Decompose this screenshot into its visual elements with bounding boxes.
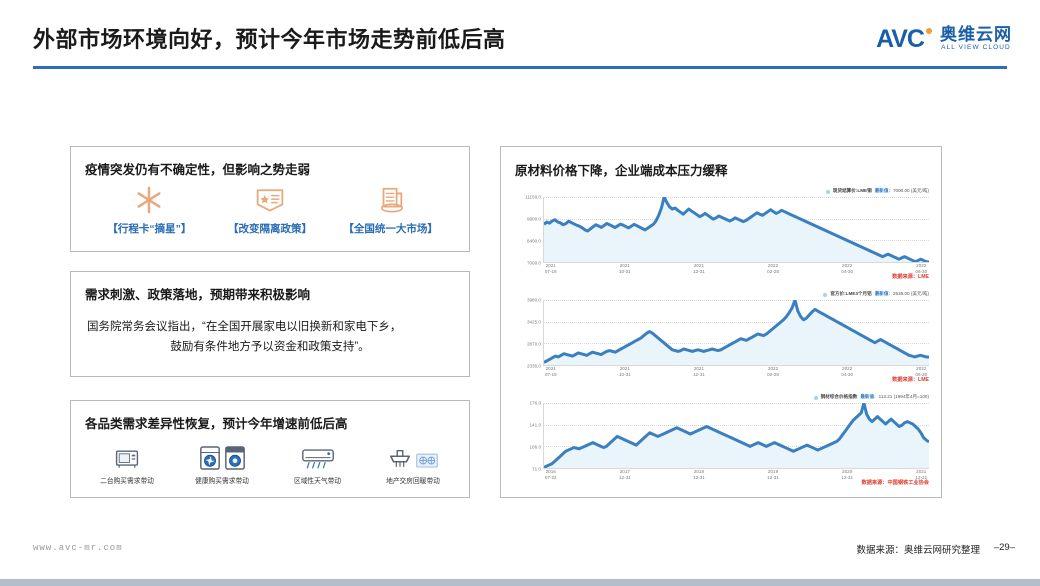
range-hood-cooktop-icon	[388, 433, 439, 471]
chart-aluminium-x-axis: 202107-19202110-31202112-31202202-282022…	[543, 366, 929, 382]
raw-material-price-panel: 原材料价格下降，企业端成本压力缓释 现货结算价:LME铜 最新值: 7000.0…	[500, 146, 942, 498]
policy-label-unified-market: 【全国统一大市场】	[343, 221, 438, 236]
footer-website: www.avc-mr.com	[33, 543, 123, 553]
y-tick-label: 7000.0	[527, 261, 541, 266]
legend-swatch-icon	[823, 293, 827, 297]
product-item-microwave[interactable]: 二台购买需求带动	[79, 433, 175, 486]
box1-heading: 疫情突发仍有不确定性，但影响之势走弱	[85, 159, 310, 178]
chart-copper: 现货结算价:LME铜 最新值: 7000.00 (美元/吨) 11150.098…	[515, 187, 929, 285]
product-label-air-conditioner: 区域性天气带动	[294, 476, 341, 486]
logo-mark-text: AVC	[876, 27, 924, 52]
logo-tagline: ALL VIEW CLOUD	[941, 44, 1011, 52]
microwave-icon	[114, 433, 140, 471]
y-tick-label: 9800.0	[527, 217, 541, 222]
x-tick-label: 201607-22	[545, 469, 557, 480]
legend-latest-value: 7000.00 (美元/吨)	[893, 189, 929, 194]
policy-label-quarantine: 【改变隔离政策】	[228, 221, 312, 236]
category-recovery-box: 各品类需求差异性恢复，预计今年增速前低后高 二台购买需求带动	[70, 400, 470, 498]
chart-steel-y-axis: 176.0141.0106.071.0	[515, 403, 543, 469]
logo-chinese-name: 奥维云网	[940, 26, 1012, 44]
panel-heading: 原材料价格下降，企业端成本压力缓释	[515, 160, 728, 179]
footer-page-number: –29–	[994, 542, 1015, 553]
product-label-washer-dryer: 健康购买需求带动	[195, 476, 249, 486]
demand-policy-box: 需求刺激、政策落地，预期带来积极影响 国务院常务会议指出，“在全国开展家电以旧换…	[70, 271, 470, 377]
chart-copper-x-axis: 202107-19202110-31202112-31202202-282022…	[543, 263, 929, 279]
chart-steel-source: 数据来源：中国钢铁工业协会	[862, 479, 929, 486]
policy-label-travel-card: 【行程卡“摘星”】	[107, 221, 191, 236]
legend-series-name: 现货结算价:LME铜	[833, 189, 872, 194]
chart-copper-plot-area: 11150.09800.08400.07000.0	[515, 197, 929, 263]
asterisk-star-icon	[134, 183, 164, 217]
product-item-range-hood[interactable]: 地产交房回暖带动	[366, 433, 462, 486]
policy-item-unified-market[interactable]: 【全国统一大市场】	[331, 183, 451, 236]
legend-latest-value: 2535.00 (美元/吨)	[893, 292, 929, 297]
washer-dryer-icon	[199, 433, 246, 471]
legend-swatch-icon	[814, 396, 818, 400]
logo-chinese-block: 奥维云网 ALL VIEW CLOUD	[940, 26, 1012, 52]
legend-latest-label: 最新值:	[875, 189, 890, 194]
y-tick-label: 141.0	[530, 423, 542, 428]
policy-item-quarantine[interactable]: 【改变隔离政策】	[210, 183, 330, 236]
product-label-microwave: 二台购买需求带动	[100, 476, 154, 486]
box2-heading: 需求刺激、政策落地，预期带来积极影响	[85, 284, 310, 303]
x-tick-label: 202107-19	[545, 263, 557, 274]
y-tick-label: 3980.0	[527, 298, 541, 303]
box2-quote-line2: 鼓励有条件地方予以资金和政策支持”。	[87, 338, 453, 358]
y-tick-label: 2335.0	[527, 364, 541, 369]
x-tick-label: 202110-31	[619, 263, 631, 274]
x-tick-label: 202202-28	[767, 366, 779, 377]
chart-copper-source: 数据来源：LME	[892, 273, 929, 280]
x-tick-label: 202112-31	[693, 366, 705, 377]
box3-product-row: 二台购买需求带动 健康购买需求带动	[71, 433, 469, 486]
product-item-air-conditioner[interactable]: 区域性天气带动	[270, 433, 366, 486]
series-line	[544, 403, 929, 468]
y-tick-label: 8400.0	[527, 239, 541, 244]
chart-copper-y-axis: 11150.09800.08400.07000.0	[515, 197, 543, 263]
product-item-washer-dryer[interactable]: 健康购买需求带动	[175, 433, 271, 486]
series-line	[544, 300, 929, 365]
star-badge-icon	[255, 183, 285, 217]
series-line	[544, 197, 929, 262]
x-tick-label: 202012-31	[841, 469, 853, 480]
x-tick-label: 202202-28	[767, 263, 779, 274]
chart-aluminium-plot-area: 3980.03425.02870.02335.0	[515, 300, 929, 366]
chart-aluminium-legend: 官方价:LME3个月铝 最新值: 2535.00 (美元/吨)	[515, 290, 929, 299]
x-tick-label: 202110-31	[619, 366, 631, 377]
x-tick-label: 201712-31	[619, 469, 631, 480]
pandemic-impact-box: 疫情突发仍有不确定性，但影响之势走弱 【行程卡“摘星”】	[70, 146, 470, 252]
box2-quote-line1: 国务院常务会议指出，“在全国开展家电以旧换新和家电下乡，	[87, 318, 453, 338]
x-tick-label: 202112-31	[693, 263, 705, 274]
chart-steel-legend: 钢材综合价格指数 最新值: 113.21 (1994年4月=100)	[515, 393, 929, 402]
chart-aluminium: 官方价:LME3个月铝 最新值: 2535.00 (美元/吨) 3980.034…	[515, 290, 929, 388]
legend-latest-label: 最新值:	[875, 292, 890, 297]
avc-logo: AVC 奥维云网 ALL VIEW CLOUD	[876, 22, 1012, 56]
title-divider	[33, 66, 1007, 69]
y-tick-label: 3425.0	[527, 320, 541, 325]
y-tick-label: 106.0	[530, 445, 542, 450]
legend-series-name: 官方价:LME3个月铝	[830, 292, 871, 297]
bottom-accent-bar	[0, 579, 1040, 586]
box1-icon-row: 【行程卡“摘星”】 【改变隔离政策】	[71, 183, 469, 236]
air-conditioner-icon	[301, 433, 335, 471]
x-tick-label: 202204-30	[841, 263, 853, 274]
box3-heading: 各品类需求差异性恢复，预计今年增速前低后高	[85, 413, 348, 432]
chart-copper-plot	[543, 197, 929, 263]
chart-aluminium-y-axis: 3980.03425.02870.02335.0	[515, 300, 543, 366]
chart-steel-index: 钢材综合价格指数 最新值: 113.21 (1994年4月=100) 176.0…	[515, 393, 929, 491]
building-icon	[376, 183, 406, 217]
chart-steel-plot	[543, 403, 929, 469]
box2-body: 国务院常务会议指出，“在全国开展家电以旧换新和家电下乡， 鼓励有条件地方予以资金…	[87, 318, 453, 357]
legend-series-name: 钢材综合价格指数	[821, 395, 858, 400]
x-tick-label: 201912-31	[767, 469, 779, 480]
x-tick-label: 202204-30	[841, 366, 853, 377]
product-label-range-hood: 地产交房回暖带动	[386, 476, 440, 486]
chart-steel-plot-area: 176.0141.0106.071.0	[515, 403, 929, 469]
page-title: 外部市场环境向好，预计今年市场走势前低后高	[33, 22, 506, 54]
logo-orange-dot-icon	[926, 28, 932, 34]
legend-latest-label: 最新值:	[860, 395, 875, 400]
x-tick-label: 202107-19	[545, 366, 557, 377]
legend-latest-value: 113.21 (1994年4月=100)	[879, 395, 929, 400]
policy-item-travel-card[interactable]: 【行程卡“摘星”】	[89, 183, 209, 236]
y-tick-label: 11150.0	[525, 195, 541, 200]
chart-aluminium-source: 数据来源：LME	[892, 376, 929, 383]
y-tick-label: 2870.0	[527, 342, 541, 347]
y-tick-label: 176.0	[530, 401, 542, 406]
legend-swatch-icon	[826, 190, 830, 194]
y-tick-label: 71.0	[532, 467, 541, 472]
x-tick-label: 201812-31	[693, 469, 705, 480]
footer-source: 数据来源：奥维云网研究整理	[856, 542, 980, 556]
chart-aluminium-plot	[543, 300, 929, 366]
chart-copper-legend: 现货结算价:LME铜 最新值: 7000.00 (美元/吨)	[515, 187, 929, 196]
